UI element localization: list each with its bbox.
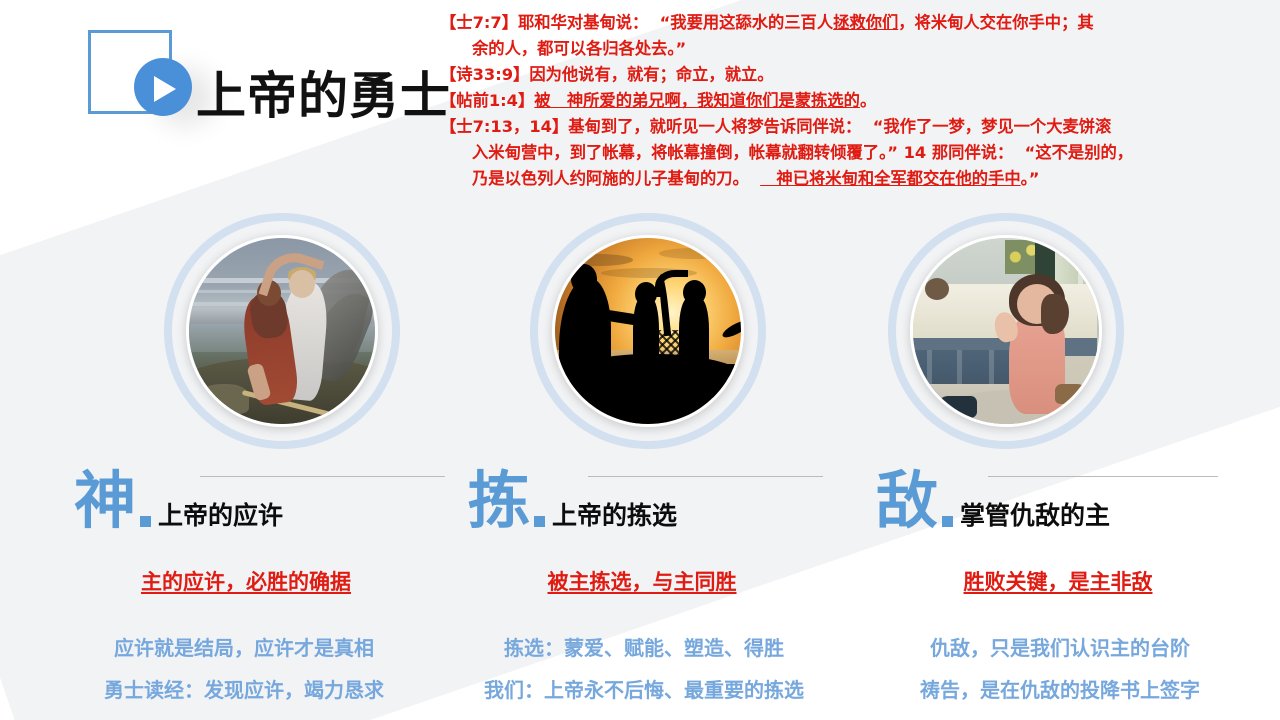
- jacob-wrestling-angel-photo: [186, 235, 378, 427]
- column-dot-2: [534, 516, 545, 527]
- image-circle-3: [888, 213, 1124, 449]
- content-column-3: 敌 掌管仇敌的主 胜败关键，是主非敌 仇敌，只是我们认识主的台阶 祷告，是在仇敌…: [850, 462, 1270, 720]
- calling-artwork: [555, 238, 741, 424]
- play-triangle-icon: [154, 76, 176, 102]
- scripture-line-7: 乃是以色列人约阿施的儿子基甸的刀。 神已将米甸和全军都交在他的手中。”: [440, 166, 1266, 192]
- column-subtitle-1: 上帝的应许: [158, 496, 283, 532]
- scripture-line-3: 【诗33:9】因为他说有，就有；命立，就立。: [440, 62, 1266, 88]
- column-heading-3: 敌 掌管仇敌的主: [850, 474, 1270, 536]
- column-heading-1: 神 上帝的应许: [40, 474, 460, 536]
- scripture-block: 【士7:7】耶和华对基甸说： “我要用这舔水的三百人拯救你们，将米甸人交在你手中…: [440, 10, 1266, 192]
- scripture-line-1: 【士7:7】耶和华对基甸说： “我要用这舔水的三百人拯救你们，将米甸人交在你手中…: [440, 10, 1266, 36]
- content-column-1: 神 上帝的应许 主的应许，必胜的确据 应许就是结局，应许才是真相 勇士读经：发现…: [40, 462, 460, 720]
- column-red-line-1: 主的应许，必胜的确据: [36, 566, 456, 596]
- column-blue-line-3-1: 仇敌，只是我们认识主的台阶: [850, 632, 1270, 661]
- column-blue-line-1-1: 应许就是结局，应许才是真相: [34, 632, 454, 661]
- column-blue-line-3-2: 祷告，是在仇敌的投降书上签字: [850, 674, 1270, 703]
- column-heading-2: 拣 上帝的拣选: [440, 474, 860, 536]
- column-dot-1: [140, 516, 151, 527]
- column-blue-line-2-1: 拣选：蒙爱、赋能、塑造、得胜: [434, 632, 854, 661]
- scripture-line-5: 【士7:13，14】基甸到了，就听见一人将梦告诉同伴说： “我作了一梦，梦见一个…: [440, 114, 1266, 140]
- praying-artwork: [913, 238, 1099, 424]
- content-columns: 神 上帝的应许 主的应许，必胜的确据 应许就是结局，应许才是真相 勇士读经：发现…: [0, 462, 1280, 720]
- jesus-calling-fishermen-photo: [552, 235, 744, 427]
- image-row: [0, 205, 1280, 460]
- jacob-artwork: [189, 238, 375, 424]
- column-big-char-3: 敌: [876, 470, 938, 532]
- scripture-line-6: 入米甸营中，到了帐幕，将帐幕撞倒，帐幕就翻转倾覆了。” 14 那同伴说： “这不…: [440, 140, 1266, 166]
- column-red-line-2: 被主拣选，与主同胜: [432, 566, 852, 596]
- image-circle-2: [530, 213, 766, 449]
- page-title: 上帝的勇士: [196, 56, 451, 128]
- column-blue-line-2-2: 我们：上帝永不后悔、最重要的拣选: [434, 674, 854, 703]
- column-red-line-3: 胜败关键，是主非敌: [848, 566, 1268, 596]
- content-column-2: 拣 上帝的拣选 被主拣选，与主同胜 拣选：蒙爱、赋能、塑造、得胜 我们：上帝永不…: [440, 462, 860, 720]
- image-circle-1: [164, 213, 400, 449]
- column-big-char-2: 拣: [468, 470, 530, 532]
- scripture-line-4: 【帖前1:4】被 神所爱的弟兄啊，我知道你们是蒙拣选的。: [440, 88, 1266, 114]
- column-dot-3: [942, 516, 953, 527]
- column-blue-line-1-2: 勇士读经：发现应许，竭力恳求: [34, 674, 454, 703]
- logo-block: 上帝的勇士: [88, 22, 428, 114]
- slide-header: 上帝的勇士 【士7:7】耶和华对基甸说： “我要用这舔水的三百人拯救你们，将米甸…: [0, 0, 1280, 205]
- girl-praying-bedside-photo: [910, 235, 1102, 427]
- column-subtitle-2: 上帝的拣选: [552, 496, 677, 532]
- column-big-char-1: 神: [74, 470, 136, 532]
- column-subtitle-3: 掌管仇敌的主: [960, 496, 1110, 532]
- scripture-line-2: 余的人，都可以各归各处去。”: [440, 36, 1266, 62]
